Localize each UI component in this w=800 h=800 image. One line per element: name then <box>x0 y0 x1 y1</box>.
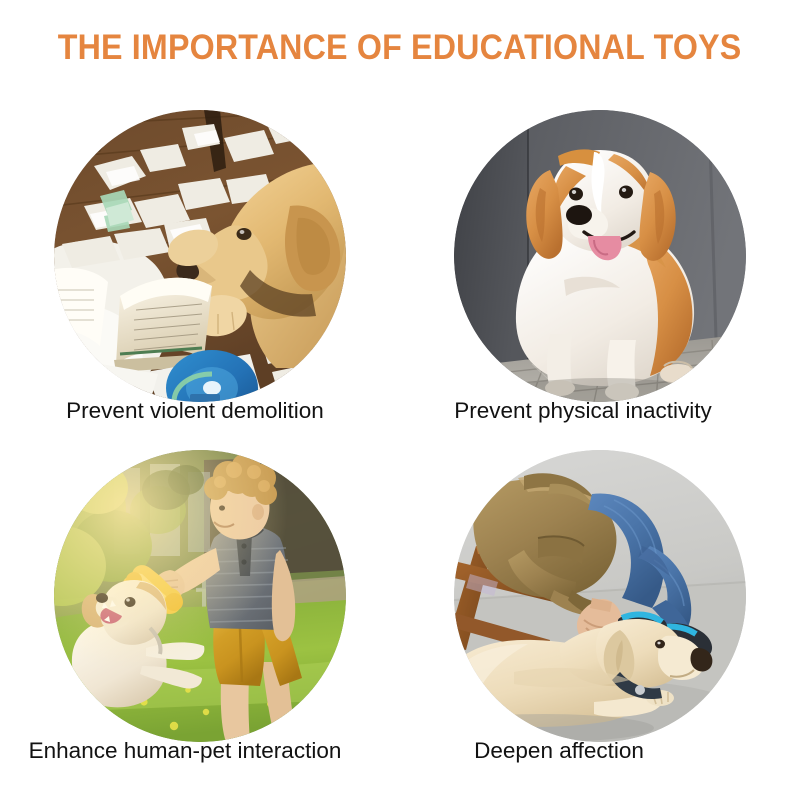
feature-caption: Deepen affection <box>359 736 759 766</box>
feature-caption: Enhance human-pet interaction <box>0 736 385 766</box>
feature-caption: Prevent violent demolition <box>0 396 395 426</box>
photo-artwork <box>454 110 746 402</box>
feature-item-enhance-human-pet-interaction: Enhance human-pet interaction <box>0 436 400 786</box>
poster: THE IMPORTANCE OF EDUCATIONAL TOYS <box>0 0 800 800</box>
overweight-beagle-sitting-photo <box>454 110 746 402</box>
photo-frame <box>54 110 346 402</box>
feature-item-prevent-physical-inactivity: Prevent physical inactivity <box>400 96 800 446</box>
feature-caption: Prevent physical inactivity <box>383 396 783 426</box>
dog-chewing-book-shredded-paper-photo <box>54 110 346 402</box>
feature-item-prevent-violent-demolition: Prevent violent demolition <box>0 96 400 446</box>
title-bar: THE IMPORTANCE OF EDUCATIONAL TOYS <box>0 26 800 70</box>
photo-frame <box>54 450 346 742</box>
photo-artwork <box>54 110 346 402</box>
photo-frame <box>454 110 746 402</box>
person-petting-labrador-photo <box>454 450 746 742</box>
feature-grid: Prevent violent demolition <box>0 96 800 796</box>
page-title: THE IMPORTANCE OF EDUCATIONAL TOYS <box>58 26 742 70</box>
photo-artwork <box>54 450 346 742</box>
photo-artwork <box>454 450 746 742</box>
feature-item-deepen-affection: Deepen affection <box>400 436 800 786</box>
photo-frame <box>454 450 746 742</box>
boy-playing-with-puppy-toy-photo <box>54 450 346 742</box>
